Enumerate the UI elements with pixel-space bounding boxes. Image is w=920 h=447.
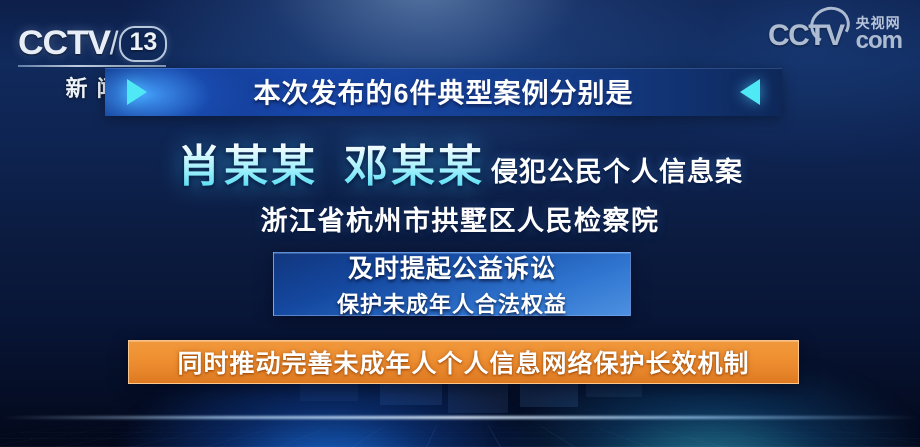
highlight-line-1: 及时提起公益诉讼 xyxy=(348,249,556,285)
play-triangle-left-icon xyxy=(740,79,760,105)
case-names-line: 肖某某 邓某某 侵犯公民个人信息案 xyxy=(0,130,920,184)
watermark-cctv-group: CCTV xyxy=(768,19,844,53)
defendant-name-2: 邓某某 xyxy=(344,130,485,194)
orange-banner-text: 同时推动完善未成年人个人信息网络保护长效机制 xyxy=(177,344,749,380)
highlight-box: 及时提起公益诉讼 保护未成年人合法权益 xyxy=(273,252,631,316)
case-type-label: 侵犯公民个人信息案 xyxy=(491,150,743,189)
logo-slash-icon: / xyxy=(110,25,119,62)
watermark-domain-label: com xyxy=(856,29,902,53)
procuratorate-label: 浙江省杭州市拱墅区人民检察院 xyxy=(0,199,920,238)
watermark-right-group: 央视网 com xyxy=(856,16,902,53)
highlight-line-2: 保护未成年人合法权益 xyxy=(337,287,567,319)
channel-number-badge: 13 xyxy=(119,26,167,62)
orange-banner: 同时推动完善未成年人个人信息网络保护长效机制 xyxy=(128,340,799,384)
channel-logo-row: CCTV / 13 xyxy=(18,24,168,63)
cctv-com-watermark: CCTV 央视网 com xyxy=(768,16,902,53)
cctv-wordmark: CCTV xyxy=(18,24,110,63)
defendant-name-1: 肖某某 xyxy=(177,130,318,194)
headline-bar: 本次发布的6件典型案例分别是 xyxy=(105,68,782,116)
broadcast-screen: CCTV / 13 新闻 CCTV 央视网 com 本次发布的6件典型案例分别是… xyxy=(0,0,920,447)
headline-text: 本次发布的6件典型案例分别是 xyxy=(105,72,782,111)
floor-horizon-line xyxy=(0,416,920,419)
logo-underline-divider xyxy=(18,65,166,67)
